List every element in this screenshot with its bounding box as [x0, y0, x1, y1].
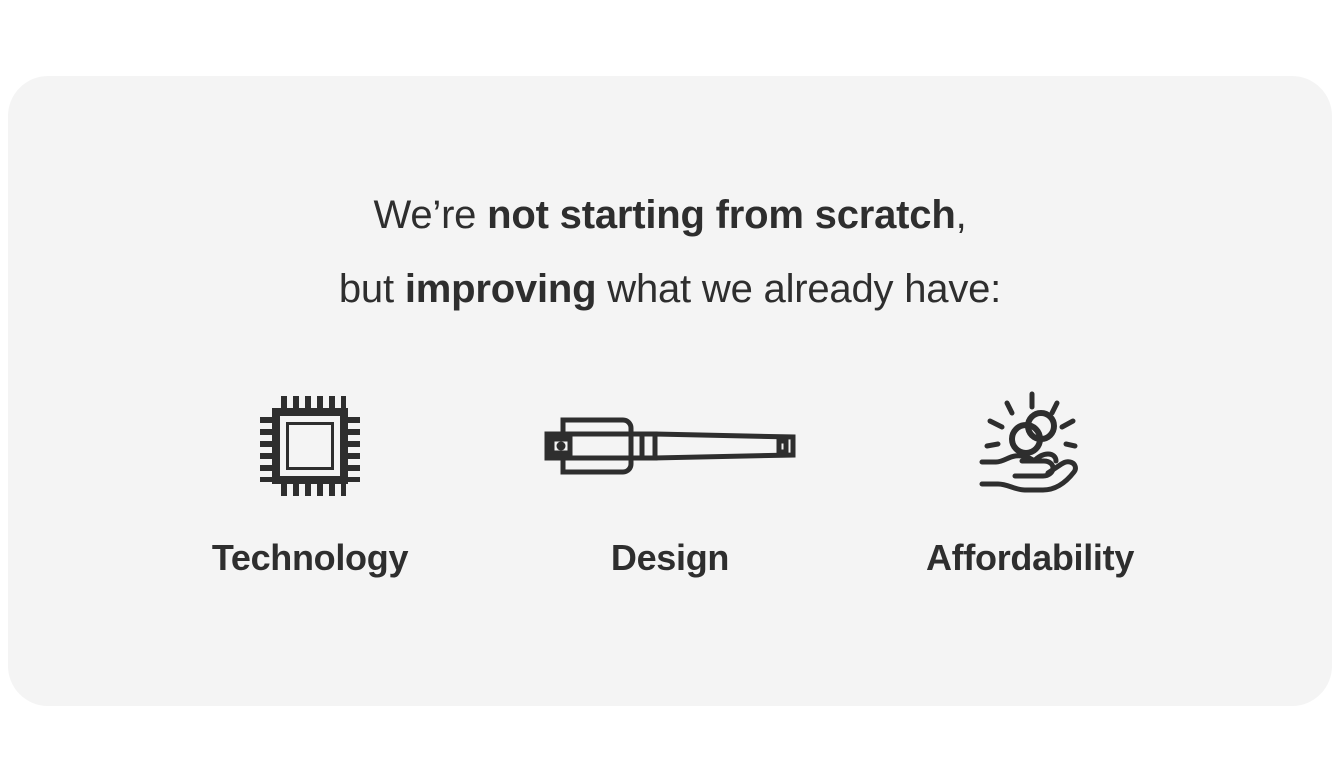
feature-item-affordability: Affordability: [850, 386, 1210, 576]
feature-highlight-card: We’re not starting from scratch, but imp…: [8, 76, 1332, 706]
feature-label-technology: Technology: [212, 540, 408, 576]
headline-line-2-text-b: what we already have:: [596, 267, 1001, 311]
headline-line-2-text-a: but: [339, 267, 405, 311]
feature-item-design: Design: [490, 386, 850, 576]
feature-list: Technology: [8, 386, 1332, 576]
headline-line-2-emphasis: improving: [405, 267, 597, 311]
feature-label-design: Design: [611, 540, 729, 576]
headline: We’re not starting from scratch, but imp…: [8, 178, 1332, 326]
headline-line-1: We’re not starting from scratch,: [8, 178, 1332, 252]
headline-line-1-text-b: ,: [956, 193, 967, 237]
feature-label-affordability: Affordability: [926, 540, 1134, 576]
page-root: We’re not starting from scratch, but imp…: [0, 0, 1340, 780]
razor-handle-icon: [539, 386, 801, 506]
cpu-chip-icon: [258, 386, 362, 506]
hand-holding-coins-icon: [974, 386, 1086, 506]
headline-line-1-emphasis: not starting from scratch: [487, 193, 955, 237]
feature-item-technology: Technology: [130, 386, 490, 576]
headline-line-2: but improving what we already have:: [8, 252, 1332, 326]
headline-line-1-text-a: We’re: [374, 193, 488, 237]
